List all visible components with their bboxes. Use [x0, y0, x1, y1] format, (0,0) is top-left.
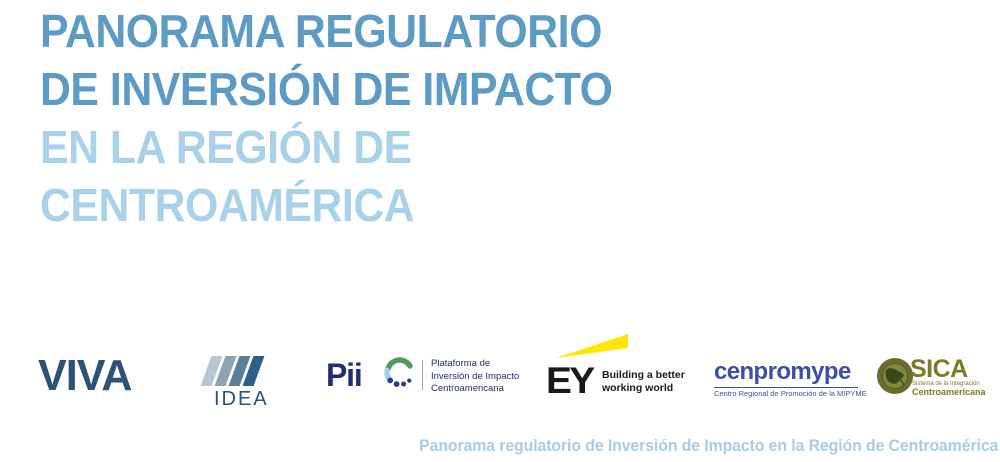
sica-subtitle-line-2: Centroamericana [912, 387, 986, 397]
ey-beam-icon [556, 334, 646, 360]
viva-idea-subtitle: IDEA [214, 388, 269, 411]
piic-tagline: Plataforma de Inversión de Impacto Centr… [431, 358, 519, 396]
ey-tagline: Building a better working world [602, 369, 685, 394]
viva-wordmark: VIVA [38, 354, 132, 398]
title-line-4: CENTROAMÉRICA [40, 176, 747, 234]
title-line-2: DE INVERSIÓN DE IMPACTO [40, 60, 747, 118]
ey-tagline-line-1: Building a better [602, 369, 685, 382]
partner-logo-strip: VIVA IDEA Pii Plataforma de Inversión de… [0, 332, 1000, 418]
piic-wordmark: Pii [326, 359, 362, 391]
logo-piic: Pii Plataforma de Inversión de Impacto C… [326, 332, 516, 418]
piic-tagline-line-3: Centroamericana [431, 383, 519, 396]
cenpromype-wordmark: cenpromype [714, 360, 851, 384]
cenpromype-subtitle: Centro Regional de Promoción de la MIPYM… [714, 389, 867, 399]
piic-tagline-line-1: Plataforma de [431, 358, 519, 371]
ey-wordmark: EY [546, 362, 593, 399]
logo-cenpromype: cenpromype Centro Regional de Promoción … [714, 332, 864, 418]
piic-c-mark-icon [382, 356, 416, 390]
logo-ey: EY Building a better working world [546, 332, 696, 418]
piic-tagline-line-2: Inversión de Impacto [431, 371, 519, 384]
title-line-1: PANORAMA REGULATORIO [40, 2, 747, 60]
title-line-3: EN LA REGIÓN DE [40, 118, 747, 176]
cenpromype-rule [714, 387, 858, 388]
sica-wordmark: SICA [910, 357, 968, 382]
viva-bars-icon [206, 356, 268, 386]
footer-caption: Panorama regulatorio de Inversión de Imp… [419, 436, 998, 456]
logo-viva-idea: VIVA IDEA [38, 332, 270, 418]
piic-divider [422, 360, 423, 390]
sica-seal-icon [876, 357, 914, 395]
ey-tagline-line-2: working world [602, 382, 685, 395]
logo-sica: SICA Sistema de la Integración Centroame… [876, 332, 1000, 418]
page-title: PANORAMA REGULATORIO DE INVERSIÓN DE IMP… [40, 2, 800, 234]
